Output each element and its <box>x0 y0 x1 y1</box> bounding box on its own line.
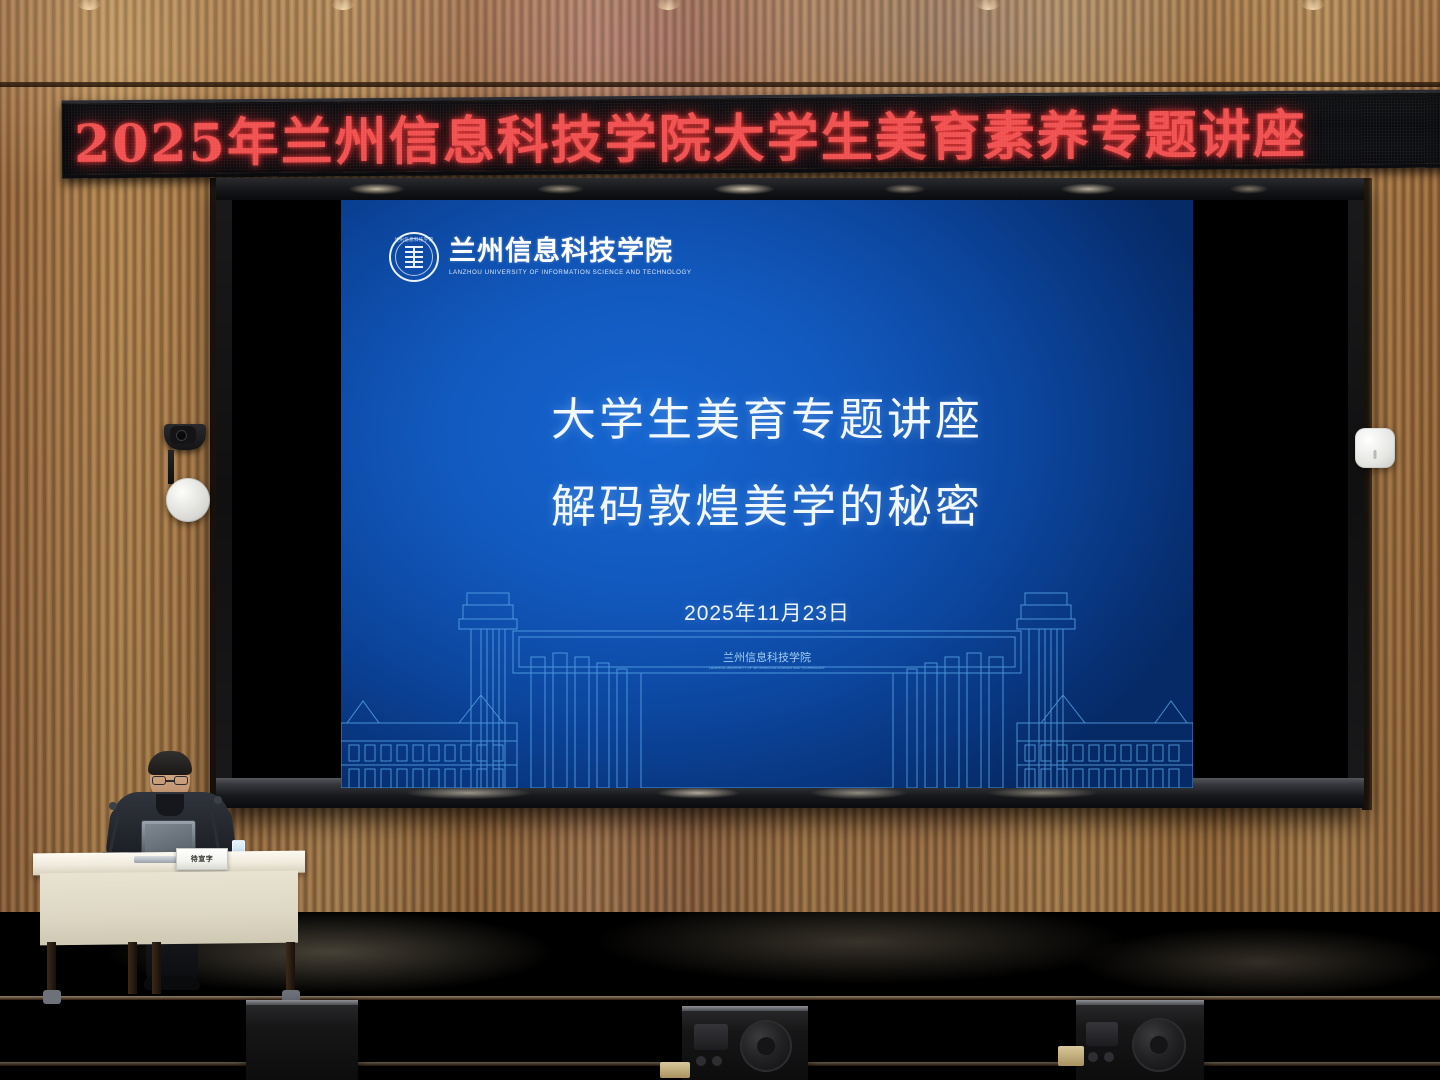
microphone-right-head <box>214 796 222 804</box>
wifi-access-point-icon <box>1355 428 1395 468</box>
stage-edge-seam <box>0 996 1440 1000</box>
slide-title-line2: 解码敦煌美学的秘密 <box>341 483 1193 530</box>
university-crest-icon: 兰州信息科技学院 <box>389 232 439 282</box>
crest-arc-text: 兰州信息科技学院 <box>394 237 433 243</box>
table-leg <box>47 942 56 994</box>
monitor-top-trim <box>246 1000 358 1005</box>
watermark-gate-label: 兰州信息科技学院 <box>723 650 811 664</box>
screen-top-bezel <box>216 178 1364 200</box>
camera-lens-icon <box>176 430 187 441</box>
logo-text-block: 兰州信息科技学院 LANZHOU UNIVERSITY OF INFORMATI… <box>449 238 692 276</box>
monitor-woofer <box>1132 1018 1186 1072</box>
monitor-top-trim <box>682 1006 808 1011</box>
stage-monitor-3 <box>1076 1000 1204 1080</box>
logo-name-en: LANZHOU UNIVERSITY OF INFORMATION SCIENC… <box>449 269 692 276</box>
microphone-left-head <box>109 802 117 810</box>
university-logo: 兰州信息科技学院 兰州信息科技学院 LANZHOU UNIVERSITY OF … <box>389 232 692 282</box>
table-leg <box>152 942 161 994</box>
presenter-hair <box>148 751 192 775</box>
presenter-table-front <box>40 871 298 946</box>
stage-monitor-1 <box>246 1000 358 1080</box>
floor-box <box>660 1062 690 1078</box>
monitor-horn <box>1086 1022 1118 1046</box>
name-card: 待宣字 <box>176 848 228 870</box>
slide-title-line1: 大学生美育专题讲座 <box>341 396 1193 443</box>
table-leg <box>128 942 137 994</box>
wall-speaker-icon <box>166 478 210 522</box>
name-card-text: 待宣字 <box>191 854 214 864</box>
camera-cable <box>168 450 174 484</box>
logo-name-cn: 兰州信息科技学院 <box>449 238 692 266</box>
led-banner: 2025年兰州信息科技学院大学生美育素养专题讲座 <box>62 90 1440 179</box>
led-banner-text: 2025年兰州信息科技学院大学生美育素养专题讲座 <box>74 92 1307 177</box>
presentation-slide: 兰州信息科技学院 兰州信息科技学院 LANZHOU UNIVERSITY OF … <box>341 200 1193 788</box>
monitor-knobs <box>1088 1052 1114 1062</box>
presenter-glasses-icon <box>152 776 188 785</box>
monitor-top-trim <box>1076 1000 1204 1005</box>
lecture-hall-scene: 2025年兰州信息科技学院大学生美育素养专题讲座 兰州信息科技学院 兰州信息科技… <box>0 0 1440 1080</box>
crest-glyph <box>405 246 423 268</box>
wall-panel-seam <box>0 82 1440 87</box>
floor-box <box>1058 1046 1084 1066</box>
table-leg <box>286 942 295 994</box>
campus-line-art-watermark: 兰州信息科技学院 LANZHOU UNIVERSITY OF INFORMATI… <box>341 583 1193 788</box>
slide-title-block: 大学生美育专题讲座 解码敦煌美学的秘密 <box>341 396 1193 531</box>
presenter-collar <box>156 794 184 816</box>
monitor-knobs <box>696 1056 722 1066</box>
stage-monitor-2 <box>682 1006 808 1080</box>
table-caster <box>43 990 61 1004</box>
monitor-woofer <box>740 1020 792 1072</box>
monitor-horn <box>694 1024 728 1050</box>
watermark-gate-label-en: LANZHOU UNIVERSITY OF INFORMATION SCIENC… <box>709 666 826 670</box>
